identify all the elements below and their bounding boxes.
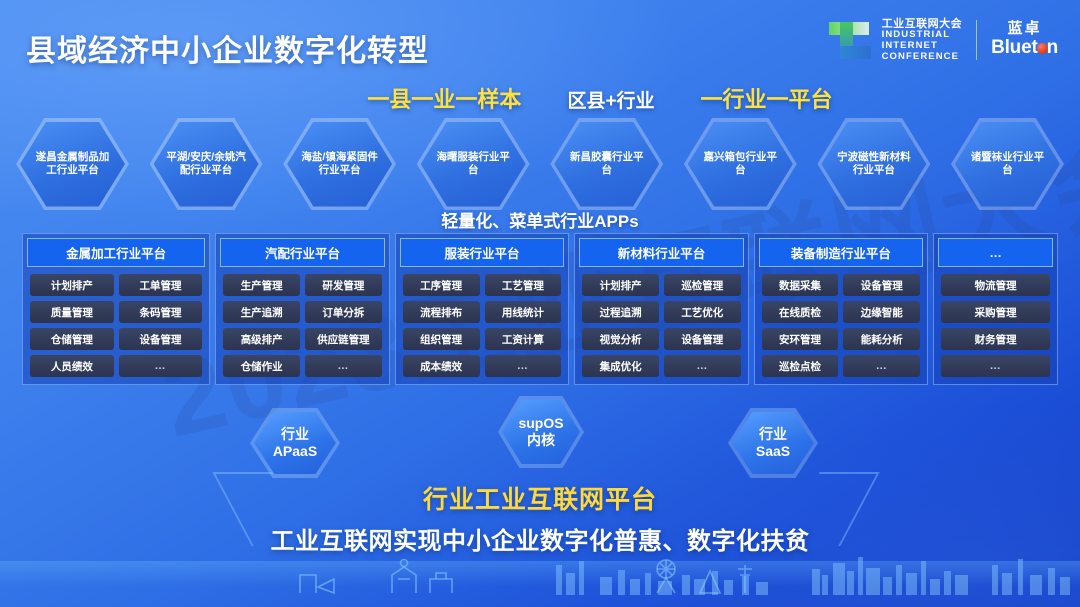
panel-header: 金属加工行业平台: [27, 238, 205, 267]
panel-header: …: [938, 238, 1053, 267]
app-chip[interactable]: 设备管理: [664, 328, 741, 350]
brand-en-right: n: [1047, 37, 1058, 58]
app-chip[interactable]: 采购管理: [941, 301, 1050, 323]
hexagon-supos-kernel[interactable]: supOS内核: [498, 396, 584, 468]
logo-group: 工业互联网大会 INDUSTRIAL INTERNET CONFERENCE 蓝…: [827, 18, 1058, 62]
hexagon-industry-5[interactable]: 新昌胶囊行业平台: [550, 118, 663, 210]
conference-name-en-3: CONFERENCE: [882, 52, 963, 63]
panel-more: … 物流管理 采购管理 财务管理 …: [933, 233, 1058, 385]
hexagon-label: 嘉兴箱包行业平台: [699, 151, 782, 178]
brand-name-cn: 蓝卓: [991, 21, 1058, 38]
app-chip[interactable]: 条码管理: [119, 301, 203, 323]
apaas-line-2: APaaS: [273, 443, 317, 459]
ground-gradient: [0, 561, 1080, 607]
brand-en-left: Bluet: [991, 37, 1038, 58]
app-chip-more[interactable]: …: [119, 355, 203, 377]
app-chip[interactable]: 用线统计: [485, 301, 562, 323]
hexagon-industry-6[interactable]: 嘉兴箱包行业平台: [684, 118, 797, 210]
hexagon-industry-8[interactable]: 诸暨袜业行业平台: [951, 118, 1064, 210]
panel-apparel: 服装行业平台 工序管理 工艺管理 流程排布 用线统计 组织管理 工资计算 成本绩…: [395, 233, 569, 385]
hexagon-label: 宁波磁性新材料行业平台: [832, 151, 915, 178]
app-chip[interactable]: 过程追溯: [582, 301, 659, 323]
app-chip[interactable]: 工单管理: [119, 274, 203, 296]
app-chip[interactable]: 流程排布: [403, 301, 480, 323]
app-chip-more[interactable]: …: [664, 355, 741, 377]
hexagon-industry-4[interactable]: 海曙服装行业平台: [417, 118, 530, 210]
saas-line-2: SaaS: [756, 443, 790, 459]
slogan-2: 区县+行业: [567, 86, 654, 113]
app-chip[interactable]: 生产追溯: [223, 301, 300, 323]
supos-line-1: supOS: [518, 415, 563, 431]
saas-line-1: 行业: [759, 426, 787, 442]
app-chip[interactable]: 仓储管理: [30, 328, 114, 350]
slogan-3: 一行业一平台: [701, 82, 833, 114]
apaas-line-1: 行业: [281, 426, 309, 442]
app-chip-more[interactable]: …: [941, 355, 1050, 377]
app-chip[interactable]: 供应链管理: [305, 328, 382, 350]
panel-app-grid: 计划排产 工单管理 质量管理 条码管理 仓储管理 设备管理 人员绩效 …: [23, 267, 209, 384]
app-chip-more[interactable]: …: [843, 355, 920, 377]
panel-app-grid: 计划排产 巡检管理 过程追溯 工艺优化 视觉分析 设备管理 集成优化 …: [575, 267, 747, 384]
conference-name-en-2: INTERNET: [882, 41, 963, 52]
slogan-row: 一县一业一样本 区县+行业 一行业一平台: [0, 82, 1080, 114]
t-mark-icon: [827, 18, 873, 62]
app-chip[interactable]: 财务管理: [941, 328, 1050, 350]
panel-header: 服装行业平台: [400, 238, 564, 267]
panel-metal-processing: 金属加工行业平台 计划排产 工单管理 质量管理 条码管理 仓储管理 设备管理 人…: [22, 233, 210, 385]
panel-equipment-manufacturing: 装备制造行业平台 数据采集 设备管理 在线质检 边缘智能 安环管理 能耗分析 巡…: [754, 233, 928, 385]
panel-app-grid: 物流管理 采购管理 财务管理 …: [934, 267, 1057, 384]
hexagon-label: 海盐/镇海紧固件行业平台: [298, 151, 381, 178]
brand-name-en: Bluetn: [991, 38, 1058, 59]
panel-app-grid: 工序管理 工艺管理 流程排布 用线统计 组织管理 工资计算 成本绩效 …: [396, 267, 568, 384]
hexagon-industry-saas[interactable]: 行业SaaS: [728, 408, 818, 478]
hexagon-industry-7[interactable]: 宁波磁性新材料行业平台: [817, 118, 930, 210]
app-chip-more[interactable]: …: [305, 355, 382, 377]
app-chip[interactable]: 设备管理: [843, 274, 920, 296]
app-chip[interactable]: 在线质检: [762, 301, 839, 323]
industry-platform-panels: 金属加工行业平台 计划排产 工单管理 质量管理 条码管理 仓储管理 设备管理 人…: [22, 233, 1058, 385]
app-chip[interactable]: 设备管理: [119, 328, 203, 350]
app-chip[interactable]: 工序管理: [403, 274, 480, 296]
logo-divider: [976, 20, 977, 60]
hexagon-industry-2[interactable]: 平湖/安庆/余姚汽配行业平台: [150, 118, 263, 210]
panel-header: 新材料行业平台: [579, 238, 743, 267]
app-chip[interactable]: 数据采集: [762, 274, 839, 296]
panel-header: 汽配行业平台: [220, 238, 384, 267]
app-chip[interactable]: 工资计算: [485, 328, 562, 350]
app-chip[interactable]: 工艺优化: [664, 301, 741, 323]
hexagon-industry-1[interactable]: 遂昌金属制品加工行业平台: [16, 118, 129, 210]
app-chip[interactable]: 安环管理: [762, 328, 839, 350]
app-chip[interactable]: 组织管理: [403, 328, 480, 350]
app-chip[interactable]: 计划排产: [30, 274, 114, 296]
panel-app-grid: 数据采集 设备管理 在线质检 边缘智能 安环管理 能耗分析 巡检点检 …: [755, 267, 927, 384]
app-chip[interactable]: 仓储作业: [223, 355, 300, 377]
app-chip[interactable]: 物流管理: [941, 274, 1050, 296]
panel-auto-parts: 汽配行业平台 生产管理 研发管理 生产追溯 订单分拆 高级排产 供应链管理 仓储…: [215, 233, 389, 385]
app-chip-more[interactable]: …: [485, 355, 562, 377]
app-chip[interactable]: 巡检管理: [664, 274, 741, 296]
apps-band-title: 轻量化、菜单式行业APPs: [0, 207, 1080, 232]
platform-title: 行业工业互联网平台: [0, 480, 1080, 516]
brand-logo: 蓝卓 Bluetn: [991, 21, 1058, 58]
app-chip[interactable]: 成本绩效: [403, 355, 480, 377]
hexagon-label: 诸暨袜业行业平台: [966, 151, 1049, 178]
panel-app-grid: 生产管理 研发管理 生产追溯 订单分拆 高级排产 供应链管理 仓储作业 …: [216, 267, 388, 384]
app-chip[interactable]: 边缘智能: [843, 301, 920, 323]
panel-header: 装备制造行业平台: [759, 238, 923, 267]
app-chip[interactable]: 生产管理: [223, 274, 300, 296]
app-chip[interactable]: 订单分拆: [305, 301, 382, 323]
conference-logo-text: 工业互联网大会 INDUSTRIAL INTERNET CONFERENCE: [882, 18, 963, 62]
core-platform-hexagons: 行业APaaS supOS内核 行业SaaS: [0, 396, 1080, 478]
hexagon-industry-3[interactable]: 海盐/镇海紧固件行业平台: [283, 118, 396, 210]
app-chip[interactable]: 工艺管理: [485, 274, 562, 296]
industry-hexagon-row: 遂昌金属制品加工行业平台 平湖/安庆/余姚汽配行业平台 海盐/镇海紧固件行业平台…: [16, 118, 1064, 210]
app-chip[interactable]: 计划排产: [582, 274, 659, 296]
app-chip[interactable]: 人员绩效: [30, 355, 114, 377]
page-title: 县域经济中小企业数字化转型: [26, 26, 429, 70]
supos-line-2: 内核: [527, 432, 555, 448]
app-chip[interactable]: 研发管理: [305, 274, 382, 296]
hexagon-industry-apaas[interactable]: 行业APaaS: [250, 408, 340, 478]
hexagon-label: 遂昌金属制品加工行业平台: [31, 151, 114, 178]
app-chip[interactable]: 高级排产: [223, 328, 300, 350]
slogan-1: 一县一业一样本: [367, 82, 521, 114]
hexagon-label: 平湖/安庆/余姚汽配行业平台: [165, 151, 248, 178]
platform-subtitle: 工业互联网实现中小企业数字化普惠、数字化扶贫: [0, 521, 1080, 556]
panel-new-materials: 新材料行业平台 计划排产 巡检管理 过程追溯 工艺优化 视觉分析 设备管理 集成…: [574, 233, 748, 385]
app-chip[interactable]: 视觉分析: [582, 328, 659, 350]
app-chip[interactable]: 集成优化: [582, 355, 659, 377]
app-chip[interactable]: 质量管理: [30, 301, 114, 323]
app-chip[interactable]: 巡检点检: [762, 355, 839, 377]
conference-logo: 工业互联网大会 INDUSTRIAL INTERNET CONFERENCE: [827, 18, 963, 62]
hexagon-label: 新昌胶囊行业平台: [565, 151, 648, 178]
app-chip[interactable]: 能耗分析: [843, 328, 920, 350]
hexagon-label: 海曙服装行业平台: [432, 151, 515, 178]
